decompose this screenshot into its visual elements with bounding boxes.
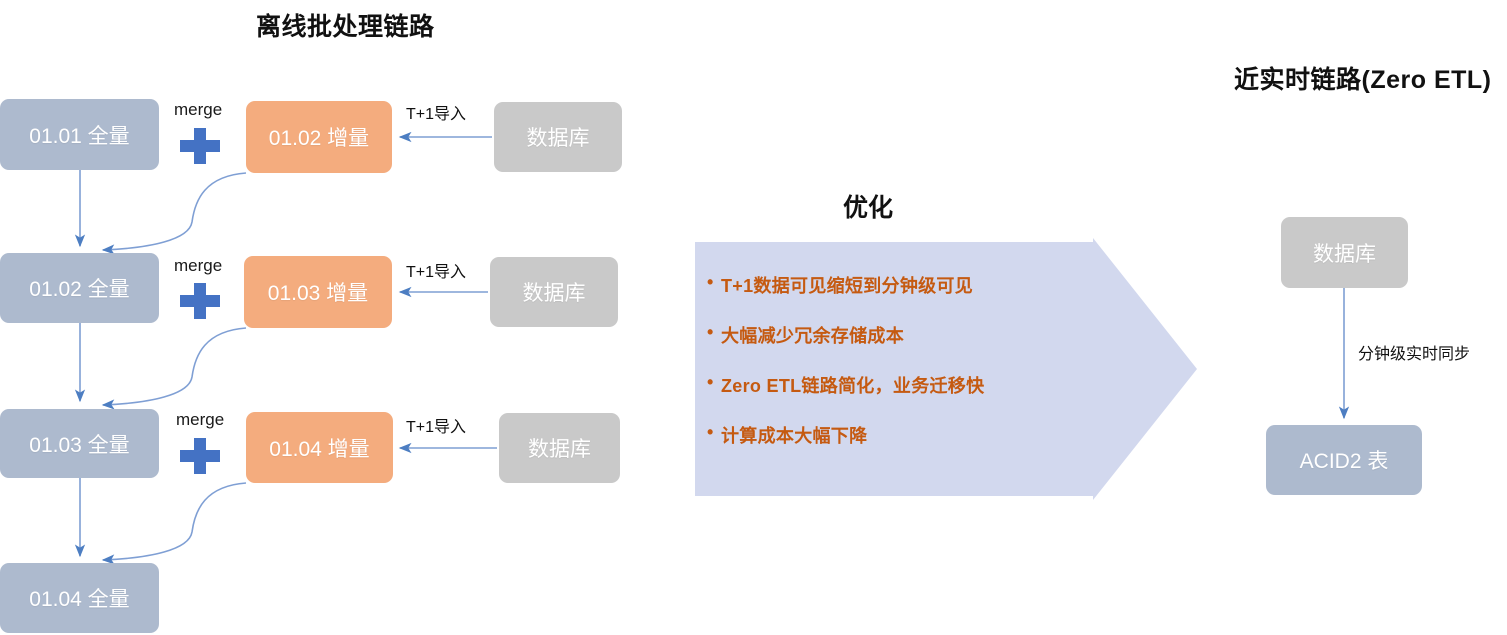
delta-label-row3: 01.04 增量 — [269, 433, 369, 463]
bullet-item-4: 计算成本大幅下降 — [721, 422, 867, 448]
delta-label-row2: 01.03 增量 — [268, 277, 368, 307]
merge-label-row2: merge — [174, 256, 222, 276]
full-snapshot-box-final[interactable]: 01.04 全量 — [0, 563, 159, 633]
plus-icon-row2 — [180, 283, 220, 319]
source-database-label: 数据库 — [1313, 238, 1376, 268]
acid2-table-box[interactable]: ACID2 表 — [1266, 425, 1422, 495]
import-label-row1: T+1导入 — [406, 100, 466, 124]
full-snapshot-box-row3[interactable]: 01.03 全量 — [0, 409, 159, 478]
full-snapshot-box-row1[interactable]: 01.01 全量 — [0, 99, 159, 170]
database-label-row3: 数据库 — [528, 433, 591, 463]
delta-box-row3[interactable]: 01.04 增量 — [246, 412, 393, 483]
acid2-table-label: ACID2 表 — [1300, 445, 1389, 475]
optimization-bullet-list: • T+1数据可见缩短到分钟级可见 • 大幅减少冗余存储成本 • Zero ET… — [707, 268, 1127, 468]
source-database-box[interactable]: 数据库 — [1281, 217, 1408, 288]
full-snapshot-label-final: 01.04 全量 — [29, 583, 129, 613]
full-snapshot-box-row2[interactable]: 01.02 全量 — [0, 253, 159, 323]
bullet-marker-3: • — [707, 372, 714, 393]
database-label-row1: 数据库 — [527, 122, 590, 152]
full-snapshot-label-row2: 01.02 全量 — [29, 273, 129, 303]
bullet-item-3: Zero ETL链路简化，业务迁移快 — [721, 372, 984, 398]
bullet-item-2: 大幅减少冗余存储成本 — [721, 322, 904, 348]
full-snapshot-label-row1: 01.01 全量 — [29, 120, 129, 150]
left-section-title: 离线批处理链路 — [256, 7, 435, 43]
bullet-marker-4: • — [707, 422, 714, 443]
bullet-marker-2: • — [707, 322, 714, 343]
right-section-title: 近实时链路(Zero ETL) — [1234, 60, 1492, 96]
database-box-row1[interactable]: 数据库 — [494, 102, 622, 172]
bullet-marker-1: • — [707, 272, 714, 293]
delta-box-row1[interactable]: 01.02 增量 — [246, 101, 392, 173]
import-label-row2: T+1导入 — [406, 258, 466, 282]
database-box-row3[interactable]: 数据库 — [499, 413, 620, 483]
delta-box-row2[interactable]: 01.03 增量 — [244, 256, 392, 328]
database-label-row2: 数据库 — [523, 277, 586, 307]
delta-label-row1: 01.02 增量 — [269, 122, 369, 152]
database-box-row2[interactable]: 数据库 — [490, 257, 618, 327]
merge-label-row3: merge — [176, 410, 224, 430]
optimization-title: 优化 — [843, 188, 893, 224]
bullet-item-1: T+1数据可见缩短到分钟级可见 — [721, 272, 973, 298]
import-label-row3: T+1导入 — [406, 413, 466, 437]
full-snapshot-label-row3: 01.03 全量 — [29, 429, 129, 459]
diagram-canvas: 离线批处理链路 01.01 全量 merge 01.02 增量 T+1导入 数据… — [0, 0, 1507, 635]
plus-icon-row1 — [180, 128, 220, 164]
merge-label-row1: merge — [174, 100, 222, 120]
sync-label: 分钟级实时同步 — [1358, 340, 1470, 364]
plus-icon-row3 — [180, 438, 220, 474]
